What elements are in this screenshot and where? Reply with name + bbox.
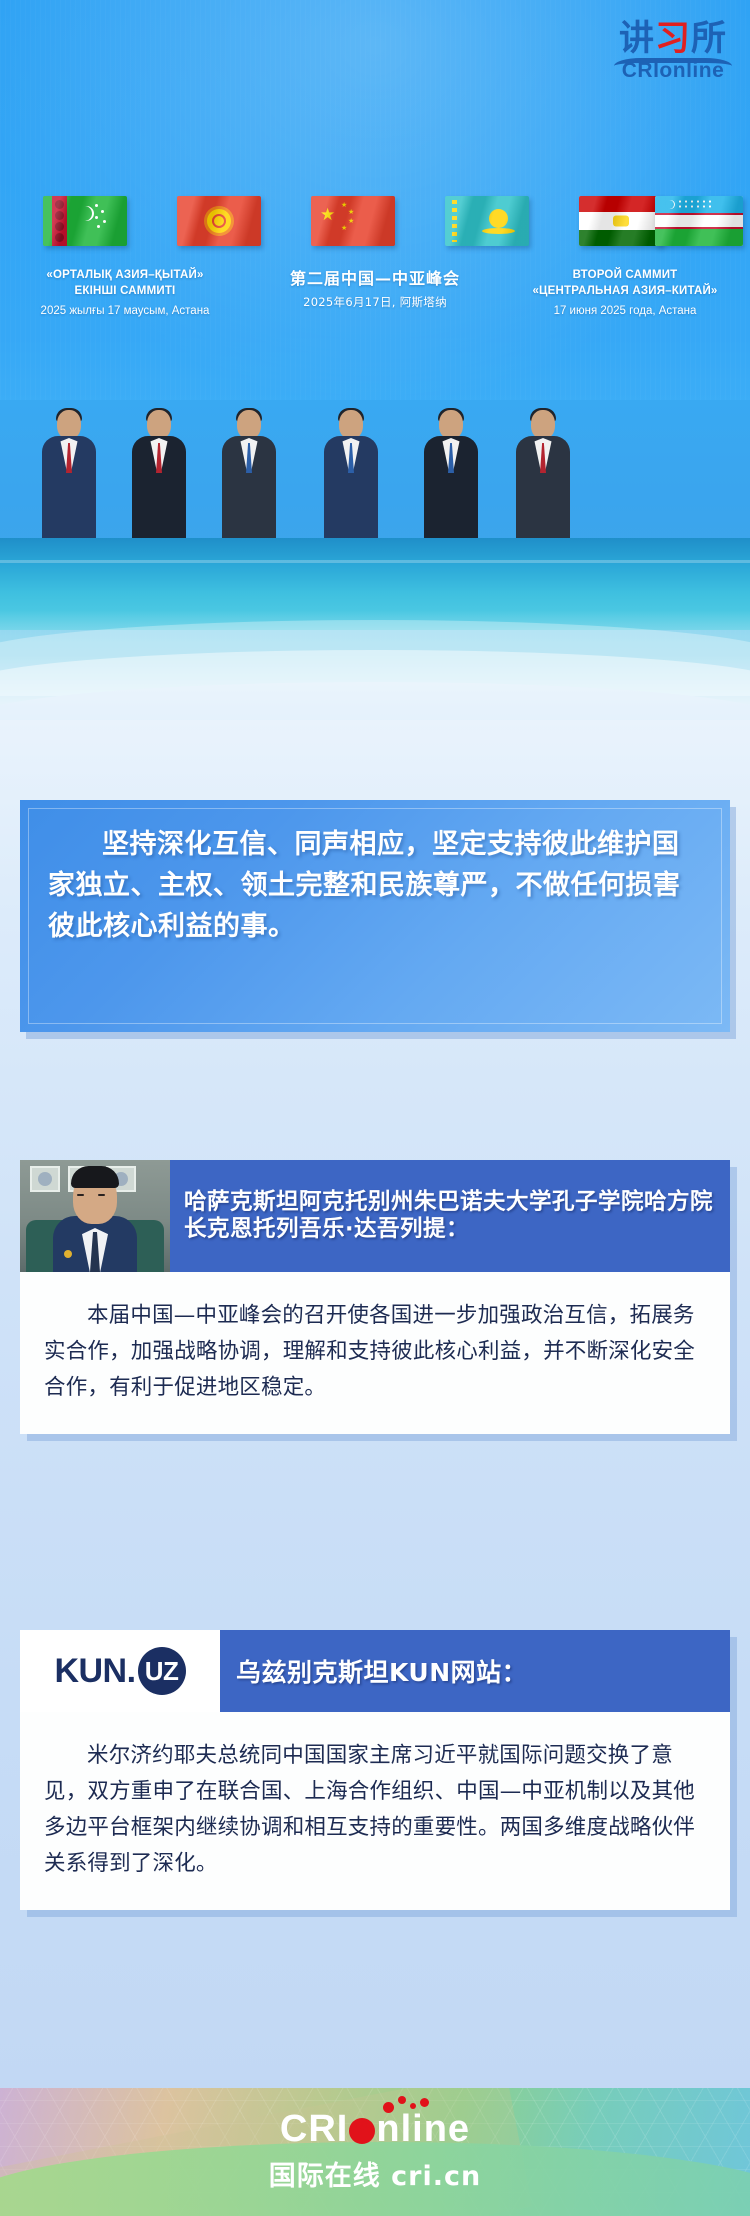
footer-banner: CRInline 国际在线 cri.cn: [0, 2088, 750, 2216]
caption-chinese-date: 2025年6月17日, 阿斯塔纳: [256, 295, 494, 311]
testimonial-1-title: 哈萨克斯坦阿克托别州朱巴诺夫大学孔子学院哈方院长克恩托列吾乐·达吾列提：: [170, 1160, 730, 1272]
kun-logo-text: KUN.: [54, 1652, 135, 1691]
cri-online-logo: 讲习所 CRIonline: [612, 22, 734, 81]
leaders-row: [0, 400, 750, 560]
leaders-group-photo: [0, 400, 750, 630]
caption-chinese-title: 第二届中国—中亚峰会: [256, 268, 494, 290]
caption-russian: ВТОРОЙ САММИТ «ЦЕНТРАЛЬНАЯ АЗИЯ–КИТАЙ» 1…: [500, 268, 750, 320]
caption-kazakh: «ОРТАЛЫҚ АЗИЯ–ҚЫТАЙ» ЕКІНШІ САММИТІ 2025…: [0, 268, 250, 320]
footer-logo-cri: CRI: [280, 2108, 348, 2150]
logo-english-text: CRIonline: [612, 62, 734, 81]
turkmenistan-flag: [43, 196, 127, 246]
kyrgyzstan-flag: [177, 196, 261, 246]
footer-logo-line: CRInline: [280, 2110, 470, 2148]
testimonial-2-header: KUN.UZ 乌兹别克斯坦KUN网站：: [20, 1630, 730, 1712]
testimonial-1-header: 哈萨克斯坦阿克托别州朱巴诺夫大学孔子学院哈方院长克恩托列吾乐·达吾列提：: [20, 1160, 730, 1272]
uzbekistan-flag: [655, 196, 743, 246]
footer-cri-logo: CRInline 国际在线 cri.cn: [0, 2110, 750, 2193]
caption-kazakh-title: «ОРТАЛЫҚ АЗИЯ–ҚЫТАЙ» ЕКІНШІ САММИТІ: [6, 268, 244, 299]
kun-logo-badge: UZ: [138, 1647, 186, 1695]
testimonial-2-body: 米尔济约耶夫总统同中国国家主席习近平就国际问题交换了意见，双方重申了在联合国、上…: [20, 1712, 730, 1910]
footer-tagline: 国际在线 cri.cn: [0, 2154, 750, 2193]
footer-logo-dot: [349, 2118, 375, 2144]
avatar: [20, 1160, 170, 1272]
main-quote-card: 坚持深化互信、同声相应，坚定支持彼此维护国家独立、主权、领土完整和民族尊严，不做…: [20, 800, 730, 1032]
testimonial-2-title: 乌兹别克斯坦KUN网站：: [220, 1630, 730, 1712]
logo-chinese-characters: 讲习所: [612, 22, 734, 57]
hero-banner: 讲习所 CRIonline ★ ★ ★ ★ ★: [0, 0, 750, 760]
flags-row: ★ ★ ★ ★ ★: [0, 196, 750, 248]
caption-russian-title: ВТОРОЙ САММИТ «ЦЕНТРАЛЬНАЯ АЗИЯ–КИТАЙ»: [506, 268, 744, 299]
main-quote-text: 坚持深化互信、同声相应，坚定支持彼此维护国家独立、主权、领土完整和民族尊严，不做…: [20, 800, 730, 947]
footer-logo-bubbles: [383, 2100, 463, 2124]
kazakhstan-flag: [445, 196, 529, 246]
china-flag: ★ ★ ★ ★ ★: [311, 196, 395, 246]
caption-russian-date: 17 июня 2025 года, Астана: [506, 304, 744, 320]
testimonial-1-body: 本届中国—中亚峰会的召开使各国进一步加强政治互信，拓展务实合作，加强战略协调，理…: [20, 1272, 730, 1434]
testimonial-card-2: KUN.UZ 乌兹别克斯坦KUN网站： 米尔济约耶夫总统同中国国家主席习近平就国…: [20, 1630, 730, 1910]
caption-chinese: 第二届中国—中亚峰会 2025年6月17日, 阿斯塔纳: [250, 268, 500, 320]
tajikistan-flag: [579, 196, 663, 246]
kun-uz-logo: KUN.UZ: [20, 1630, 220, 1712]
caption-kazakh-date: 2025 жылғы 17 маусым, Астана: [6, 304, 244, 320]
testimonial-card-1: 哈萨克斯坦阿克托别州朱巴诺夫大学孔子学院哈方院长克恩托列吾乐·达吾列提： 本届中…: [20, 1160, 730, 1434]
summit-captions: «ОРТАЛЫҚ АЗИЯ–ҚЫТАЙ» ЕКІНШІ САММИТІ 2025…: [0, 268, 750, 320]
